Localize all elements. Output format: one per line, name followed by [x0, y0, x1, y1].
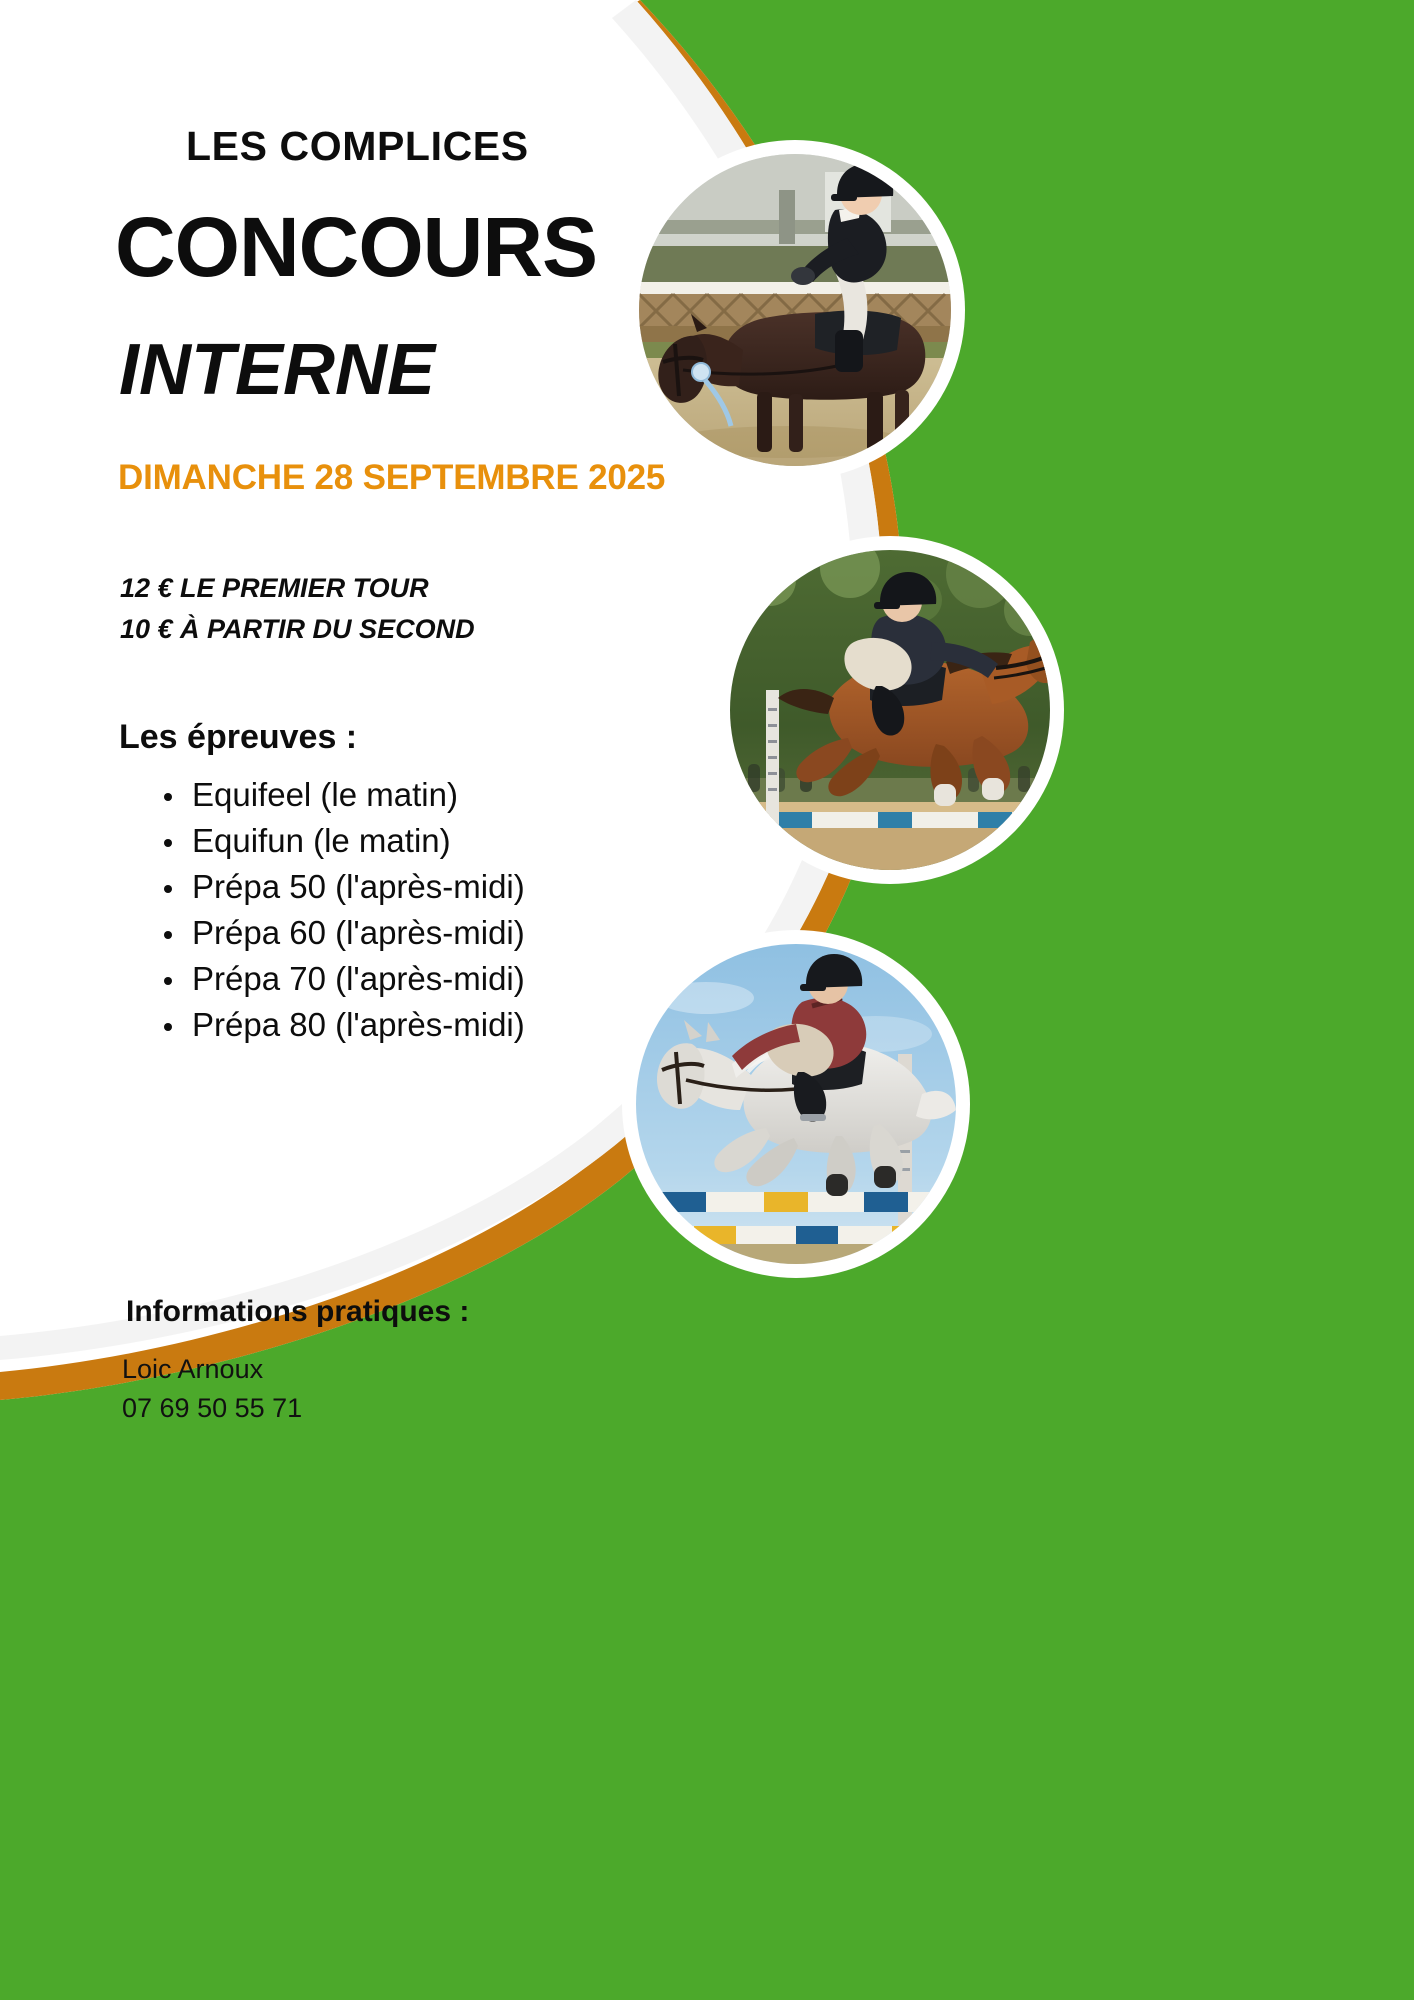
event-date: DIMANCHE 28 SEPTEMBRE 2025	[118, 458, 665, 498]
list-item: Prépa 60 (l'après-midi)	[154, 910, 525, 956]
events-heading: Les épreuves :	[119, 718, 357, 757]
list-item: Prépa 80 (l'après-midi)	[154, 1002, 525, 1048]
list-item: Prépa 70 (l'après-midi)	[154, 956, 525, 1002]
events-list: Equifeel (le matin) Equifun (le matin) P…	[118, 772, 525, 1048]
practical-info-block: Loic Arnoux 07 69 50 55 71	[122, 1350, 302, 1428]
practical-info-heading: Informations pratiques :	[126, 1295, 469, 1329]
poster-canvas: LES COMPLICES CONCOURS INTERNE DIMANCHE …	[0, 0, 1414, 2000]
list-item: Prépa 50 (l'après-midi)	[154, 864, 525, 910]
contact-phone: 07 69 50 55 71	[122, 1389, 302, 1428]
price-line-second-round: 10 € À PARTIR DU SECOND	[120, 609, 475, 650]
price-line-first-round: 12 € LE PREMIER TOUR	[120, 568, 475, 609]
page-title: CONCOURS	[115, 205, 597, 289]
poster-content: LES COMPLICES CONCOURS INTERNE DIMANCHE …	[0, 0, 1414, 2000]
list-item: Equifun (le matin)	[154, 818, 525, 864]
price-block: 12 € LE PREMIER TOUR 10 € À PARTIR DU SE…	[120, 568, 475, 649]
list-item: Equifeel (le matin)	[154, 772, 525, 818]
contact-name: Loic Arnoux	[122, 1350, 302, 1389]
club-name: LES COMPLICES	[186, 123, 529, 170]
page-subtitle: INTERNE	[119, 334, 435, 406]
